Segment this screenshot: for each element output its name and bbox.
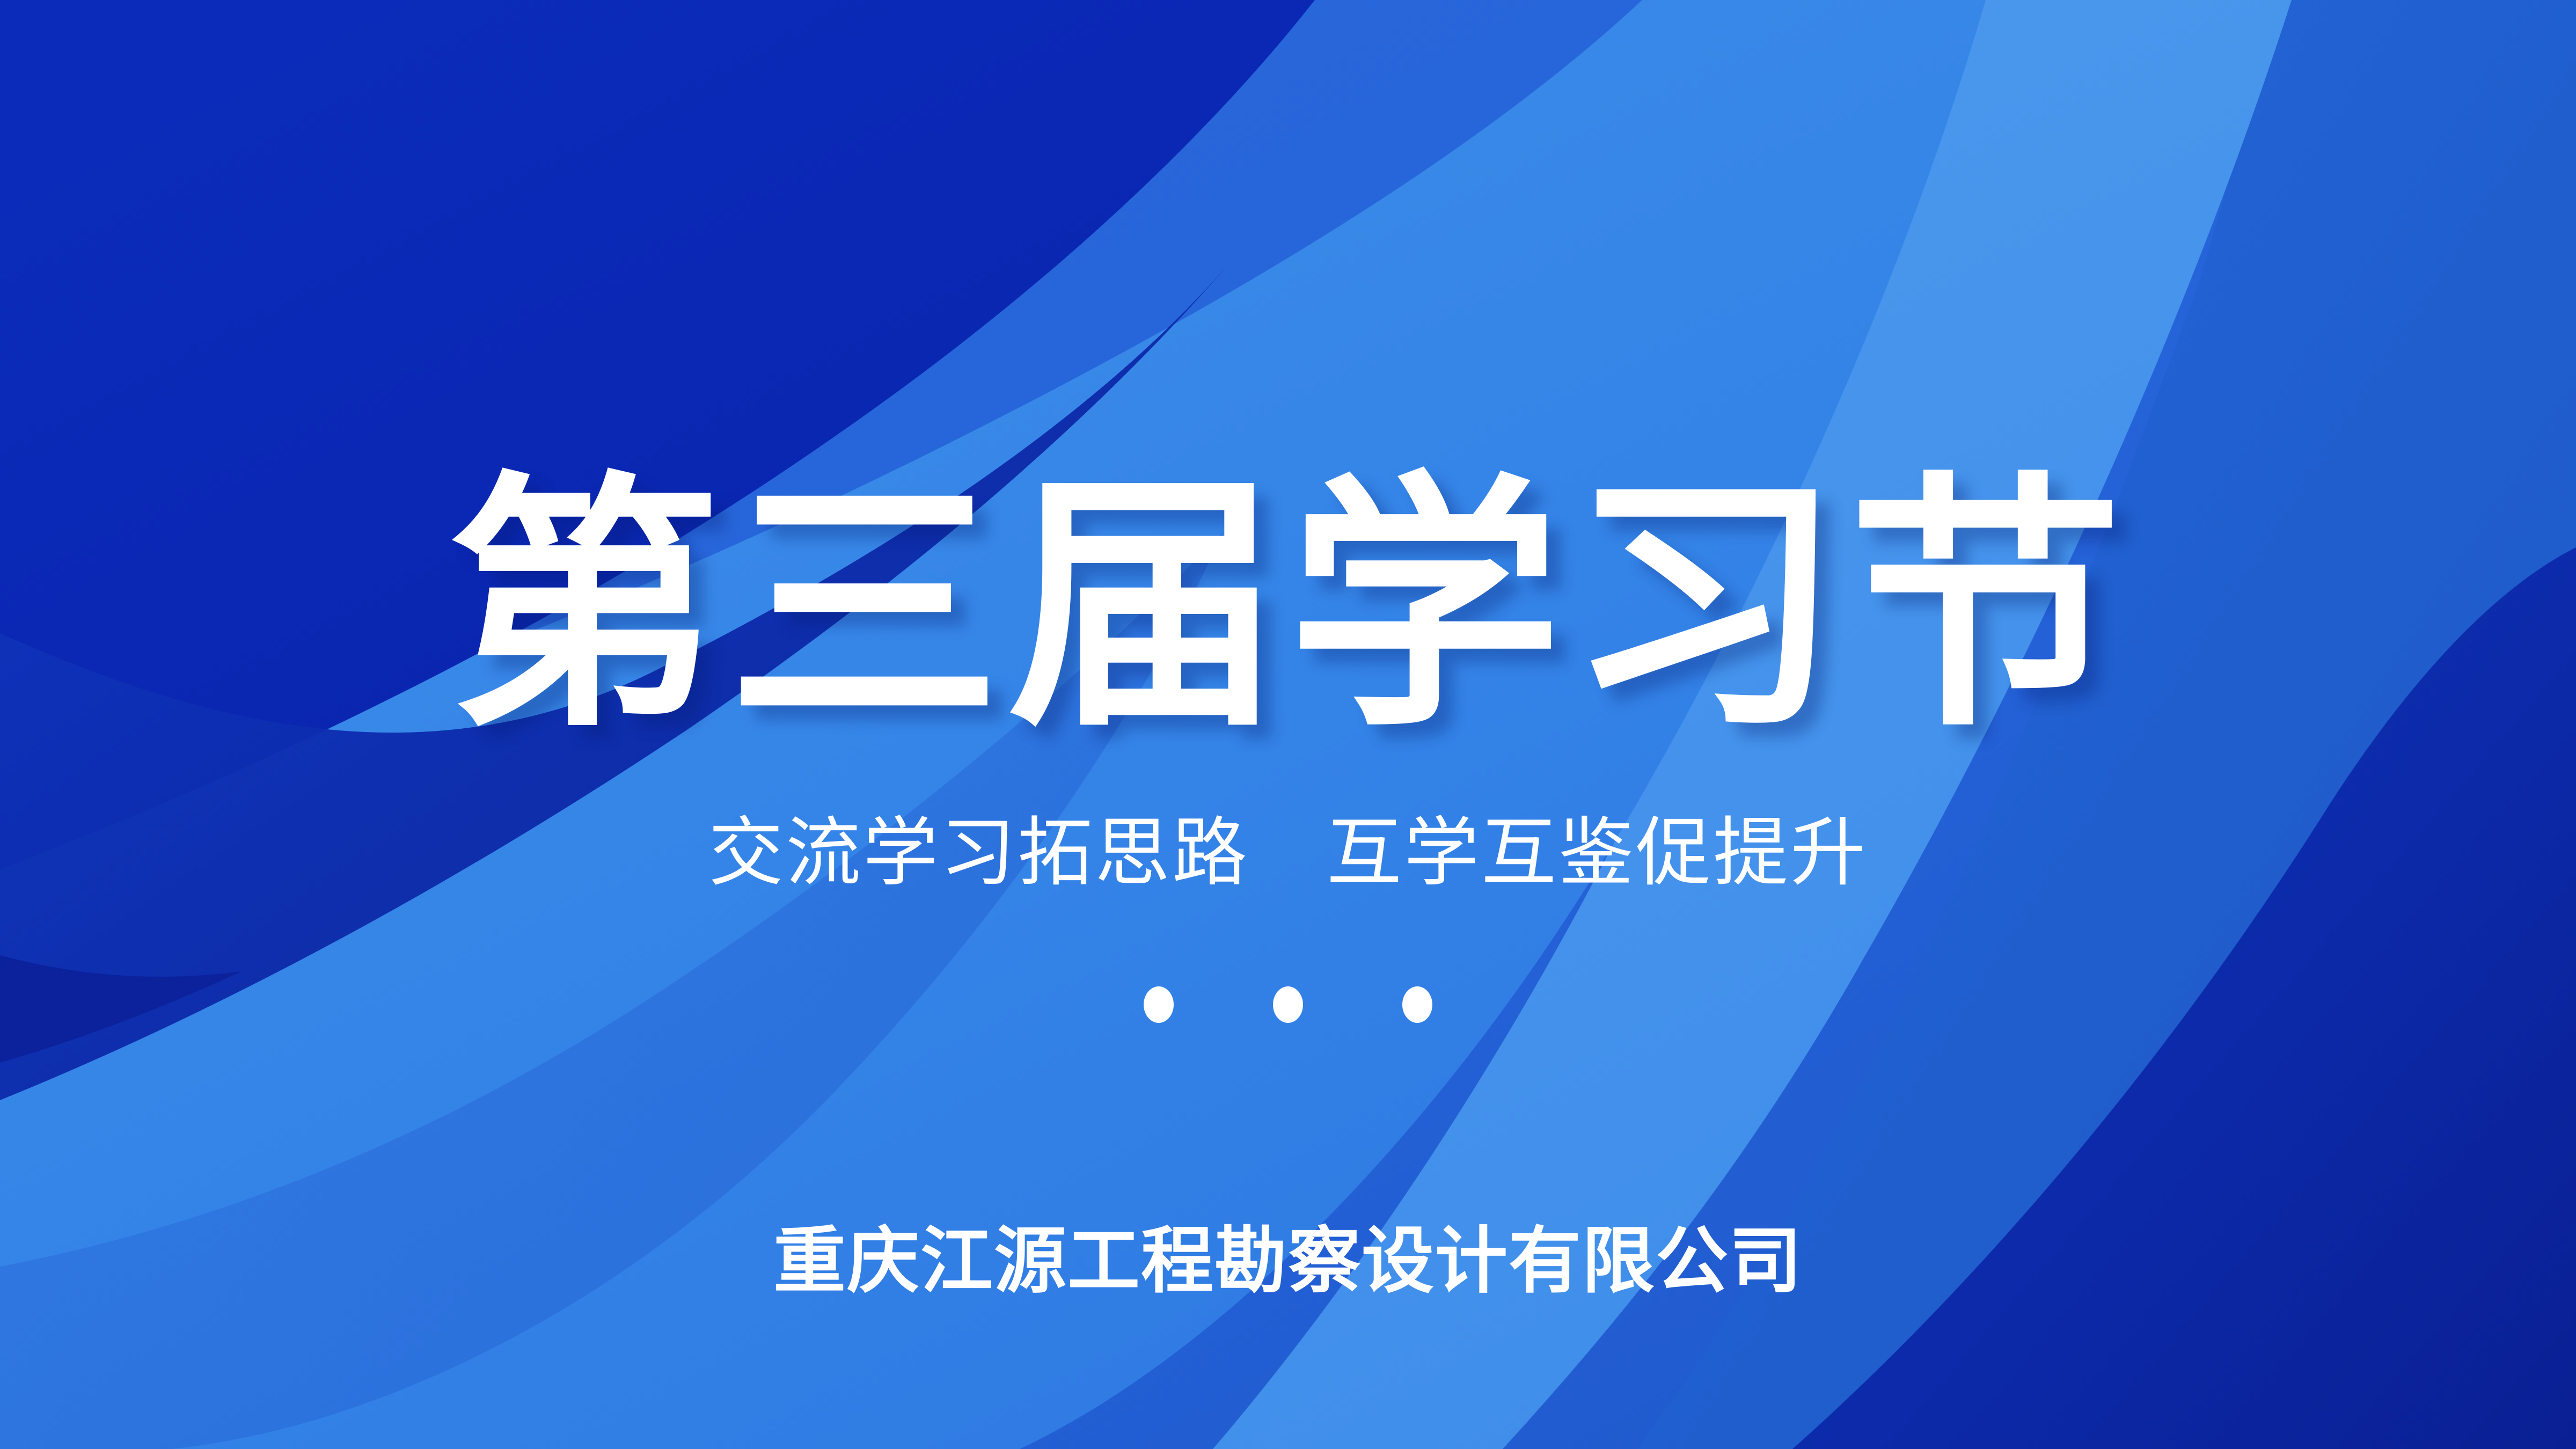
dot-icon xyxy=(1402,986,1432,1023)
decorative-dots-row xyxy=(0,986,2576,1023)
dot-icon xyxy=(1144,986,1174,1023)
organization-name: 重庆江源工程勘察设计有限公司 xyxy=(773,1219,1803,1302)
page-title: 第三届学习节 xyxy=(447,472,2128,741)
dot-icon xyxy=(1273,986,1303,1023)
footer-block: 重庆江源工程勘察设计有限公司 xyxy=(0,1219,2576,1302)
poster-canvas: 第三届学习节 交流学习拓思路 互学互鉴促提升 重庆江源工程勘察设计有限公司 xyxy=(0,0,2576,1449)
subtitle-text: 交流学习拓思路 互学互鉴促提升 xyxy=(708,808,1868,898)
poster-content: 第三届学习节 交流学习拓思路 互学互鉴促提升 重庆江源工程勘察设计有限公司 xyxy=(0,0,2576,1449)
title-block: 第三届学习节 xyxy=(0,472,2576,741)
subtitle-block: 交流学习拓思路 互学互鉴促提升 xyxy=(0,808,2576,898)
